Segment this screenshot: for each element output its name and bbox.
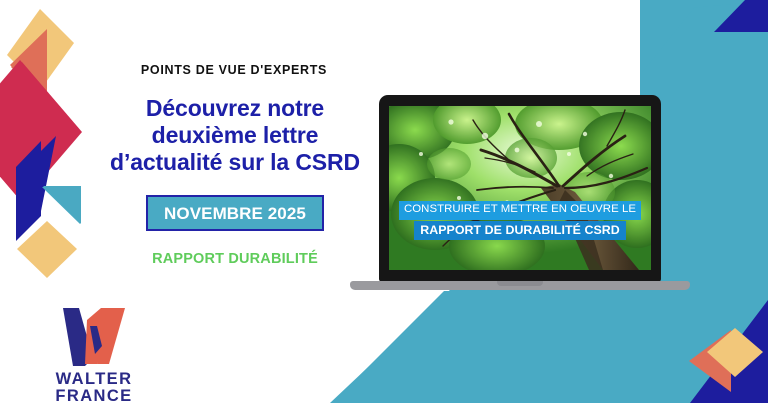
headline-column: POINTS DE VUE D'EXPERTS Découvrez notre … — [110, 64, 360, 267]
teal-triangle-left-shape-b — [43, 186, 81, 224]
screen-caption-line1-wrap: CONSTRUIRE ET METTRE EN OEUVRE LE — [389, 199, 651, 219]
screen-caption-line2: RAPPORT DE DURABILITÉ CSRD — [414, 221, 626, 240]
laptop-base-notch — [497, 281, 543, 286]
walter-france-w-icon — [57, 306, 131, 368]
eyebrow-label: POINTS DE VUE D'EXPERTS — [108, 64, 360, 78]
screen-caption-line2-wrap: RAPPORT DE DURABILITÉ CSRD — [389, 220, 651, 240]
headline-line-1: Découvrez notre — [110, 95, 360, 122]
brand-logo: WALTER FRANCE membre indépendant d’Allin… — [18, 306, 170, 403]
page-title: Découvrez notre deuxième lettre d’actual… — [110, 95, 360, 176]
brand-name: WALTER FRANCE — [18, 371, 170, 403]
date-badge-wrap: NOVEMBRE 2025 — [110, 195, 360, 231]
laptop-lid: CONSTRUIRE ET METTRE EN OEUVRE LE RAPPOR… — [379, 95, 661, 282]
screen-caption-group: CONSTRUIRE ET METTRE EN OEUVRE LE RAPPOR… — [389, 199, 651, 240]
headline-line-3: d’actualité sur la CSRD — [110, 149, 360, 176]
headline-line-2: deuxième lettre — [110, 122, 360, 149]
category-label: RAPPORT DURABILITÉ — [110, 251, 360, 267]
laptop-screen: CONSTRUIRE ET METTRE EN OEUVRE LE RAPPOR… — [389, 106, 651, 270]
date-badge: NOVEMBRE 2025 — [146, 195, 324, 231]
screen-caption-line1: CONSTRUIRE ET METTRE EN OEUVRE LE — [399, 201, 641, 219]
forest-canopy-image — [389, 106, 651, 270]
banner-root: POINTS DE VUE D'EXPERTS Découvrez notre … — [0, 0, 768, 403]
laptop-mockup: CONSTRUIRE ET METTRE EN OEUVRE LE RAPPOR… — [379, 95, 661, 296]
